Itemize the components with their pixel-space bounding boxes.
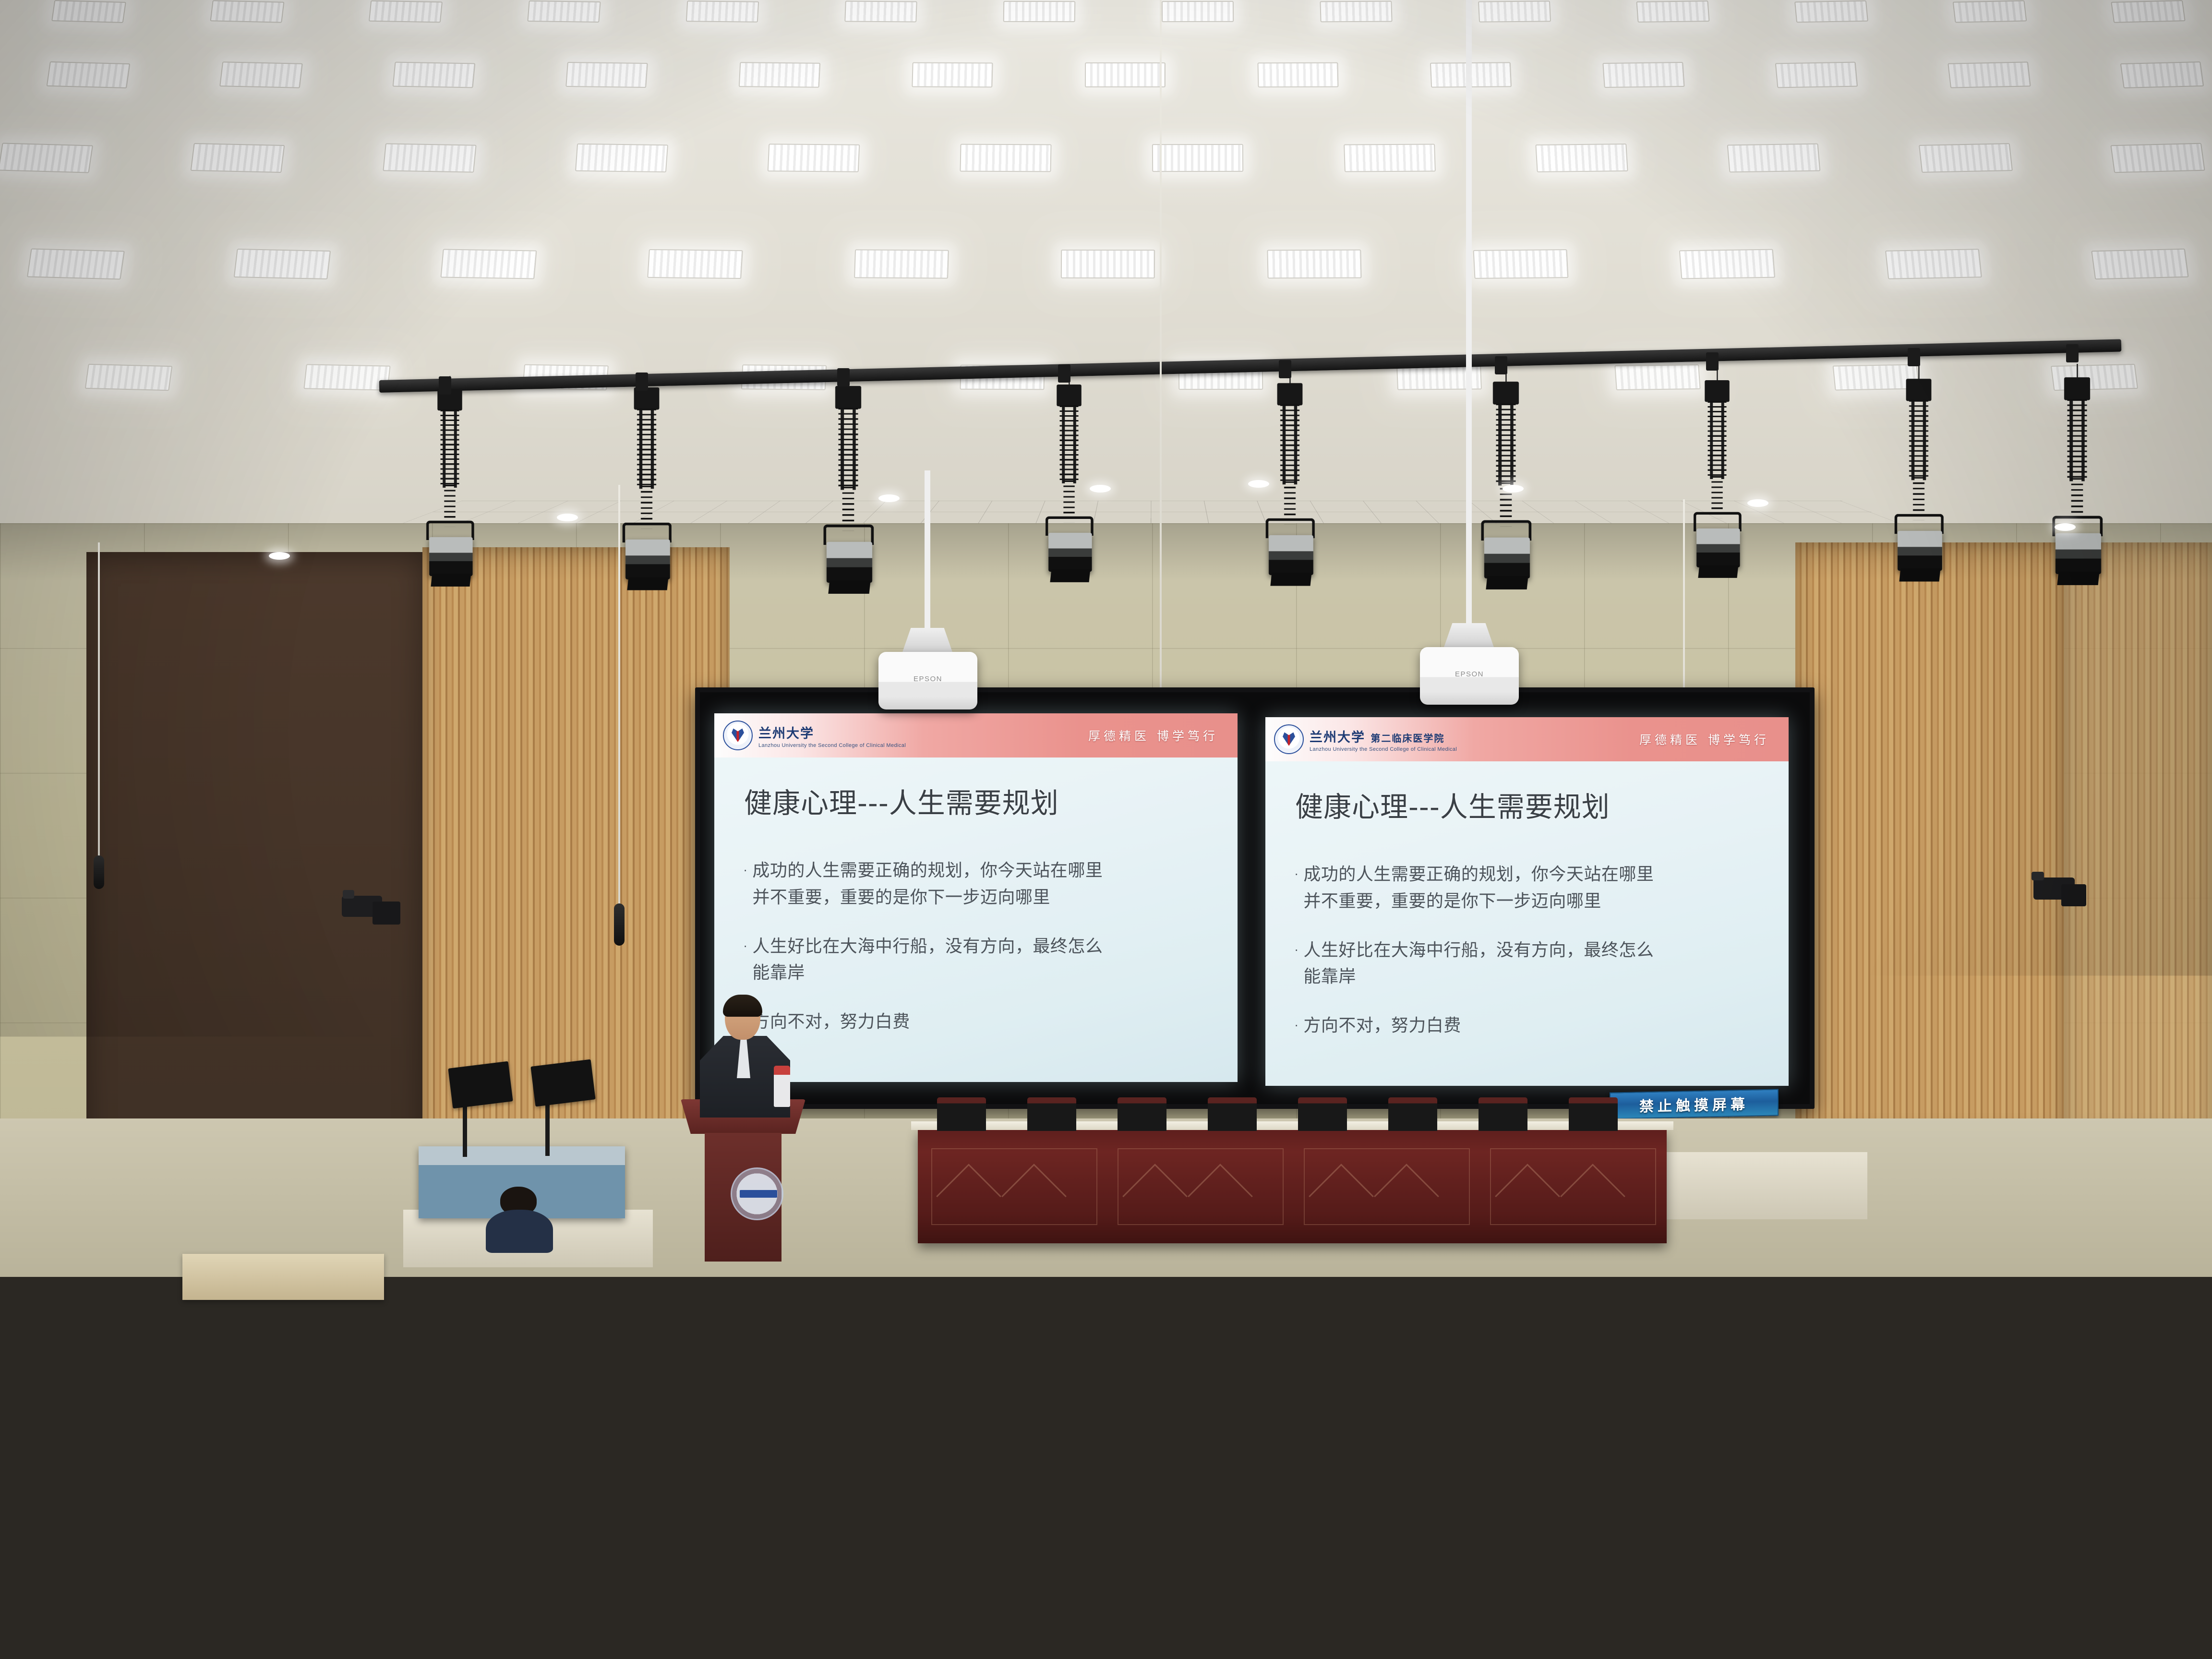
ceiling-light-panel [1478, 0, 1551, 22]
rig-scissor-lift [1909, 399, 1928, 480]
audience-head [1182, 1371, 1218, 1410]
presidium-chair[interactable] [1479, 1097, 1527, 1131]
audience-member [2037, 1652, 2198, 1659]
audience-head [1728, 1426, 1774, 1499]
projector-left: EPSON [878, 652, 977, 709]
wood-slat-panel-far-right [2064, 542, 2212, 1133]
rig-scissor-lower [1063, 477, 1074, 522]
audience-head [579, 1491, 638, 1555]
audience-head [487, 1652, 572, 1659]
audience-head [1547, 1426, 1590, 1493]
audience-head [1815, 1566, 1881, 1637]
truss-clamp [1908, 348, 1920, 366]
audience-head [1107, 1226, 1126, 1246]
ceiling-light-panel [844, 1, 917, 23]
audience-head [1530, 1491, 1586, 1578]
audience-head [1167, 1253, 1189, 1277]
audience-head [1202, 1652, 1286, 1659]
audience-head [465, 1253, 486, 1287]
ceiling-light-panel [1727, 144, 1821, 173]
water-bottle [349, 1385, 363, 1430]
slide-bullet: ·成功的人生需要正确的规划，你今天站在哪里并不重要，重要的是你下一步迈向哪里 [743, 857, 1204, 911]
audience-head [736, 1324, 766, 1372]
ceiling-light-panel [369, 0, 443, 23]
audience-head [1873, 1491, 1924, 1572]
audience-head [369, 1324, 403, 1360]
audience-head [888, 1226, 906, 1246]
ceiling-light-panel [303, 364, 390, 390]
audience-head [2117, 1370, 2155, 1412]
audience-head [682, 1426, 725, 1473]
water-bottle [295, 1350, 307, 1374]
wall-camera-right [2032, 870, 2090, 916]
audience-member [8, 1566, 147, 1659]
audience-head [1333, 1253, 1355, 1277]
ceiling-light-panel [1636, 0, 1709, 23]
ceiling-light-panel [1948, 61, 2031, 88]
audience-head [216, 1324, 249, 1376]
audience-member [1202, 1652, 1367, 1659]
audience-head [942, 1226, 961, 1247]
university-name-en: Lanzhou University the Second College of… [1310, 746, 1457, 752]
ceiling-light-panel [210, 0, 285, 23]
lectern-university-seal [731, 1167, 783, 1220]
audience-head [2146, 1253, 2170, 1279]
audience-head [1802, 1253, 1823, 1276]
audience-head [929, 1370, 969, 1432]
rig-scissor-lower [1711, 473, 1722, 518]
water-bottle [829, 1396, 843, 1430]
audience-head [2080, 1286, 2104, 1324]
audience-head [2166, 1226, 2186, 1257]
water-bottle [1368, 1297, 1377, 1327]
recessed-downlight [1248, 480, 1269, 488]
audience-member [844, 1652, 1010, 1659]
stage-light-fixture [1048, 533, 1092, 572]
audience-head [703, 1491, 761, 1554]
audience-head [2031, 1253, 2053, 1278]
rig-scissor-lower [842, 483, 854, 530]
audience-head [260, 1371, 296, 1427]
audience-head [1062, 1426, 1105, 1493]
rig-scissor-lift [1280, 404, 1299, 484]
audience-head [1920, 1253, 1941, 1287]
audience-head [291, 1253, 313, 1276]
projection-screen-frame: 兰州大学 Lanzhou University the Second Colle… [695, 687, 1815, 1109]
speaker-hair [723, 995, 762, 1017]
ceiling-light-panel [1003, 1, 1076, 22]
audience-head [83, 1324, 116, 1377]
audience-head [1748, 1286, 1777, 1316]
stage-light-barndoor [1899, 568, 1940, 581]
ceiling-light-panel [0, 143, 93, 173]
audience-head [1525, 1370, 1563, 1411]
audience-head [966, 1324, 998, 1360]
audience-head [1456, 1371, 1491, 1428]
rig-motor-box [1493, 382, 1519, 405]
ceiling-light-panel [1919, 143, 2013, 173]
water-bottle [608, 1302, 618, 1327]
audience-head [1019, 1371, 1055, 1410]
ceiling-light-panel [2111, 0, 2186, 23]
truss-clamp [439, 376, 451, 395]
audience-head [2112, 1226, 2131, 1246]
audience-head [9, 1324, 44, 1361]
audience-head [457, 1285, 487, 1317]
audience-head [90, 1425, 137, 1500]
presidium-chair[interactable] [1569, 1097, 1618, 1131]
audience-head [651, 1286, 679, 1315]
audience-head [2094, 1253, 2116, 1277]
audience-head [986, 1566, 1051, 1659]
stage-light-fixture [429, 537, 472, 576]
slide-bullet: ·方向不对，努力白费 [1294, 1012, 1755, 1039]
audience-head [165, 1226, 183, 1245]
stage-light-fixture [1484, 538, 1530, 578]
truss-clamp [837, 368, 850, 386]
no-touch-screen-label: 禁止触摸屏幕 [1639, 1093, 1749, 1116]
rig-scissor-lift [441, 409, 459, 488]
hanging-mic-1 [614, 903, 625, 946]
presidium-chair[interactable] [1388, 1097, 1437, 1131]
audience-head [1998, 1226, 2018, 1247]
audience-head [1228, 1286, 1257, 1331]
audience-head [288, 1567, 350, 1659]
rig-motor-box [1277, 383, 1303, 405]
audience-head [1277, 1491, 1331, 1576]
ceiling-light-panel [1775, 62, 1858, 88]
audience-head [57, 1286, 85, 1330]
audience-member [838, 1566, 973, 1659]
audience-head [1928, 1566, 1993, 1636]
audience-member [1376, 1566, 1503, 1659]
audience-head [2012, 1426, 2055, 1472]
audience-head [293, 1426, 338, 1475]
slide-header-left: 兰州大学 Lanzhou University the Second Colle… [714, 713, 1238, 757]
ceiling-light-panel [768, 144, 860, 172]
audience-head [670, 1324, 704, 1378]
audience-head [0, 1285, 29, 1317]
ceiling-light-panel [1344, 144, 1436, 172]
audience-head [844, 1652, 929, 1659]
audience-head [208, 1226, 228, 1257]
ceiling-light-panel [219, 61, 303, 88]
audience-head [2049, 1226, 2069, 1248]
audience-head [633, 1226, 652, 1247]
recessed-downlight [269, 552, 290, 560]
audience-member [487, 1652, 652, 1659]
audience-head [529, 1226, 547, 1255]
university-name-cn: 兰州大学 第二临床医学院 [1310, 727, 1457, 745]
projector-right: EPSON [1420, 647, 1519, 705]
slide-bullet-list-left: ·成功的人生需要正确的规划，你今天站在哪里并不重要，重要的是你下一步迈向哪里·人… [743, 857, 1204, 1058]
water-bottle [169, 1343, 181, 1374]
slide-bullet-text: 人生好比在大海中行船，没有方向，最终怎么能靠岸 [752, 933, 1103, 987]
audience-member [1521, 1566, 1647, 1659]
audience-head [1353, 1370, 1394, 1415]
university-name-block: 兰州大学 Lanzhou University the Second Colle… [758, 723, 906, 748]
audience-head [1628, 1370, 1668, 1433]
audience-member [2057, 1567, 2182, 1659]
audience-head [817, 1324, 851, 1377]
audience-head [2082, 1491, 2134, 1573]
slide-title: 健康心理---人生需要规划 [744, 781, 1059, 821]
audience-head [1345, 1653, 1421, 1659]
ceiling-light-panel [1162, 1, 1234, 22]
audience-head [841, 1286, 866, 1313]
audience-head [1242, 1425, 1288, 1499]
audience-head [1950, 1226, 1971, 1248]
audience-head [2122, 1426, 2167, 1474]
rig-scissor-lower [444, 481, 455, 527]
audience-head [1037, 1653, 1113, 1659]
audience-head [1400, 1324, 1431, 1374]
audience-member [1861, 1651, 2031, 1659]
recessed-downlight [2055, 523, 2076, 531]
audience-head [1376, 1566, 1442, 1637]
audience-head [910, 1286, 936, 1314]
bullet-dot-icon: · [743, 933, 747, 987]
audience-head [0, 1653, 75, 1659]
audience-head [1317, 1226, 1334, 1246]
audience-head [762, 1253, 783, 1287]
audience-head [1860, 1371, 1897, 1412]
ceiling-light-panel [565, 62, 648, 88]
audience-head [413, 1226, 433, 1257]
audience-head [858, 1426, 902, 1474]
slide-right: 兰州大学 第二临床医学院 Lanzhou University the Seco… [1265, 717, 1789, 1086]
audience-head [600, 1324, 633, 1360]
audience-head [524, 1253, 548, 1279]
audience-head [1157, 1226, 1177, 1248]
stage-light-fixture [827, 542, 872, 583]
audience-head [698, 1253, 721, 1289]
audience-head [1100, 1324, 1132, 1376]
audience-head [988, 1253, 1010, 1276]
ceiling-light-panel [1679, 249, 1775, 279]
stage-light-barndoor [1270, 573, 1311, 586]
stage-light-fixture [1898, 531, 1942, 571]
audience-head [1896, 1226, 1915, 1247]
audience-head [1216, 1226, 1237, 1248]
university-motto: 厚德精医 博学笃行 [1639, 731, 1769, 748]
stage-riser-right [1666, 1152, 1867, 1219]
audience-head [1509, 1253, 1532, 1290]
bullet-dot-icon: · [1294, 861, 1298, 915]
truss-clamp [1279, 360, 1291, 378]
control-monitor-left[interactable] [448, 1061, 513, 1109]
rig-scissor-lower [641, 482, 652, 529]
audience-head [45, 1226, 63, 1246]
audience-head [1284, 1253, 1305, 1287]
audience-head [1777, 1324, 1811, 1378]
ceiling-light-panel [234, 249, 331, 279]
audience-head [1960, 1286, 1988, 1331]
audience-head [234, 1253, 258, 1291]
ceiling-light-panel [1061, 250, 1155, 278]
slide-bullet: ·人生好比在大海中行船，没有方向，最终怎么能靠岸 [743, 933, 1204, 987]
audience-head [0, 1371, 24, 1428]
truss-clamp [2066, 344, 2079, 362]
audience-head [1675, 1567, 1737, 1659]
audience-head [1460, 1253, 1483, 1278]
audience-head [677, 1370, 716, 1432]
slide-bullet: ·方向不对，努力白费 [743, 1009, 1204, 1035]
projector-brand-label: EPSON [914, 675, 942, 683]
audience-head [1055, 1253, 1079, 1279]
bullet-dot-icon: · [1294, 1012, 1298, 1039]
university-emblem-icon [1274, 724, 1304, 754]
ceiling-light-panel [1602, 62, 1684, 88]
ceiling-light-panel [383, 143, 476, 172]
presidium-chair[interactable] [937, 1097, 986, 1131]
rig-scissor-lift [2068, 398, 2087, 481]
stage-light-barndoor [431, 574, 471, 587]
ceiling-light-panel [1085, 62, 1166, 87]
audience-head [1305, 1286, 1330, 1326]
stage-light-fixture [1269, 535, 1313, 575]
presidium-chair[interactable] [1298, 1097, 1347, 1131]
audience-head [788, 1226, 806, 1255]
ceiling-light-panel [85, 364, 173, 391]
audience-head [156, 1566, 225, 1641]
audience-head [855, 1371, 891, 1428]
hanging-mic-cable-4 [98, 542, 100, 859]
audience-head [590, 1370, 629, 1413]
audience-head [488, 1426, 529, 1492]
audience-member [565, 1566, 704, 1659]
audience-head [260, 1226, 280, 1248]
rig-scissor-lift [637, 408, 656, 489]
stage-light-barndoor [1698, 565, 1738, 578]
audience-head [1142, 1425, 1189, 1476]
audience-head [1046, 1286, 1074, 1315]
audience-head [347, 1491, 398, 1572]
control-monitor-right[interactable] [530, 1059, 595, 1107]
rig-scissor-lift [839, 407, 858, 490]
audience-head [1791, 1226, 1811, 1247]
rig-scissor-lift [1708, 400, 1727, 479]
ceiling-light-panel [912, 62, 993, 88]
university-name-en: Lanzhou University the Second College of… [758, 743, 906, 748]
audience-head [1249, 1324, 1278, 1357]
audience-head [1697, 1286, 1725, 1315]
truss-clamp [1058, 364, 1070, 383]
audience-head [671, 1653, 748, 1659]
audience-head [711, 1566, 779, 1659]
audience-head [1342, 1426, 1385, 1473]
audience-head [1920, 1425, 1968, 1478]
ceiling-light-panel [647, 249, 743, 279]
audience-member [176, 1651, 347, 1659]
rig-scissor-lift [1496, 403, 1516, 485]
university-emblem-icon [723, 721, 753, 750]
audience-head [176, 1651, 264, 1659]
rig-scissor-lower [2071, 475, 2083, 522]
presidium-top-ledge [911, 1121, 1673, 1130]
ceiling-light-panel [575, 144, 668, 172]
ceiling-light-panel [2110, 143, 2205, 173]
audience-head [1559, 1324, 1589, 1372]
recessed-downlight [557, 514, 578, 521]
audience-head [1275, 1370, 1316, 1415]
audience-head [2023, 1286, 2050, 1329]
rig-motor-box [1705, 380, 1729, 402]
audience-head [324, 1286, 349, 1312]
hanging-mic-cable-1 [618, 485, 620, 907]
presidium-chair[interactable] [1208, 1097, 1257, 1131]
audience-head [8, 1566, 79, 1644]
slide-title: 健康心理---人生需要规划 [1295, 784, 1610, 825]
audience-head [2037, 1652, 2119, 1659]
ceiling-light-panel [1794, 0, 1868, 23]
audience-head [1467, 1226, 1486, 1246]
audience-member [1675, 1567, 1795, 1659]
rig-scissor-lower [1284, 478, 1296, 524]
audience-head [1923, 1324, 1958, 1378]
ceiling-light-panel [27, 248, 125, 279]
audience-head [1101, 1253, 1124, 1278]
university-name-block: 兰州大学 第二临床医学院 Lanzhou University the Seco… [1310, 727, 1457, 752]
audience-head [1369, 1226, 1387, 1254]
ceiling-light-panel [1885, 249, 1982, 279]
ceiling-light-panel [739, 62, 820, 87]
audience-head [785, 1286, 813, 1316]
audience-head [313, 1226, 332, 1256]
ceiling-light-panel [1473, 249, 1569, 279]
audience-head [1841, 1324, 1872, 1358]
audience-head [781, 1426, 827, 1499]
audience-head [1880, 1286, 1907, 1328]
stage-light-fixture [625, 540, 670, 579]
water-bottle [257, 1341, 268, 1374]
audience-head [126, 1286, 153, 1315]
university-motto: 厚德精医 博学笃行 [1088, 727, 1218, 744]
ceiling-light-panel [191, 143, 285, 173]
ceiling-light-panel [2120, 61, 2204, 88]
stage-light-barndoor [2057, 572, 2099, 585]
ceiling-light-panel [1267, 250, 1361, 279]
audience-head [2, 1426, 44, 1493]
audience-head [827, 1491, 879, 1548]
audience-head [88, 1370, 126, 1412]
audience-head [525, 1324, 555, 1372]
ceiling-light-panel [393, 62, 476, 88]
audience-head [1757, 1491, 1810, 1575]
audience-head [1871, 1253, 1894, 1278]
hanging-mic-4 [94, 855, 104, 889]
presidium-chair[interactable] [1118, 1097, 1166, 1131]
stage-light-barndoor [828, 580, 870, 594]
wood-slat-panel-right [1795, 542, 2064, 1133]
audience-head [239, 1491, 295, 1551]
stage-light-fixture [2056, 533, 2101, 574]
presidium-chair[interactable] [1027, 1097, 1076, 1131]
audience-head [1619, 1286, 1645, 1327]
ceiling-light-panel [51, 0, 126, 23]
audience-head [1798, 1370, 1837, 1413]
audience-head [519, 1285, 549, 1317]
stage-light-fixture [1696, 529, 1740, 567]
ceiling-light-panel [1535, 144, 1628, 172]
ceiling-light-panel [1257, 62, 1338, 88]
audience-head [1431, 1426, 1476, 1497]
ceiling-light-panel [1320, 1, 1392, 23]
audience-member [671, 1653, 821, 1659]
audience-head [2057, 1567, 2121, 1636]
audience-head [1835, 1426, 1878, 1495]
audience-head [890, 1324, 921, 1372]
